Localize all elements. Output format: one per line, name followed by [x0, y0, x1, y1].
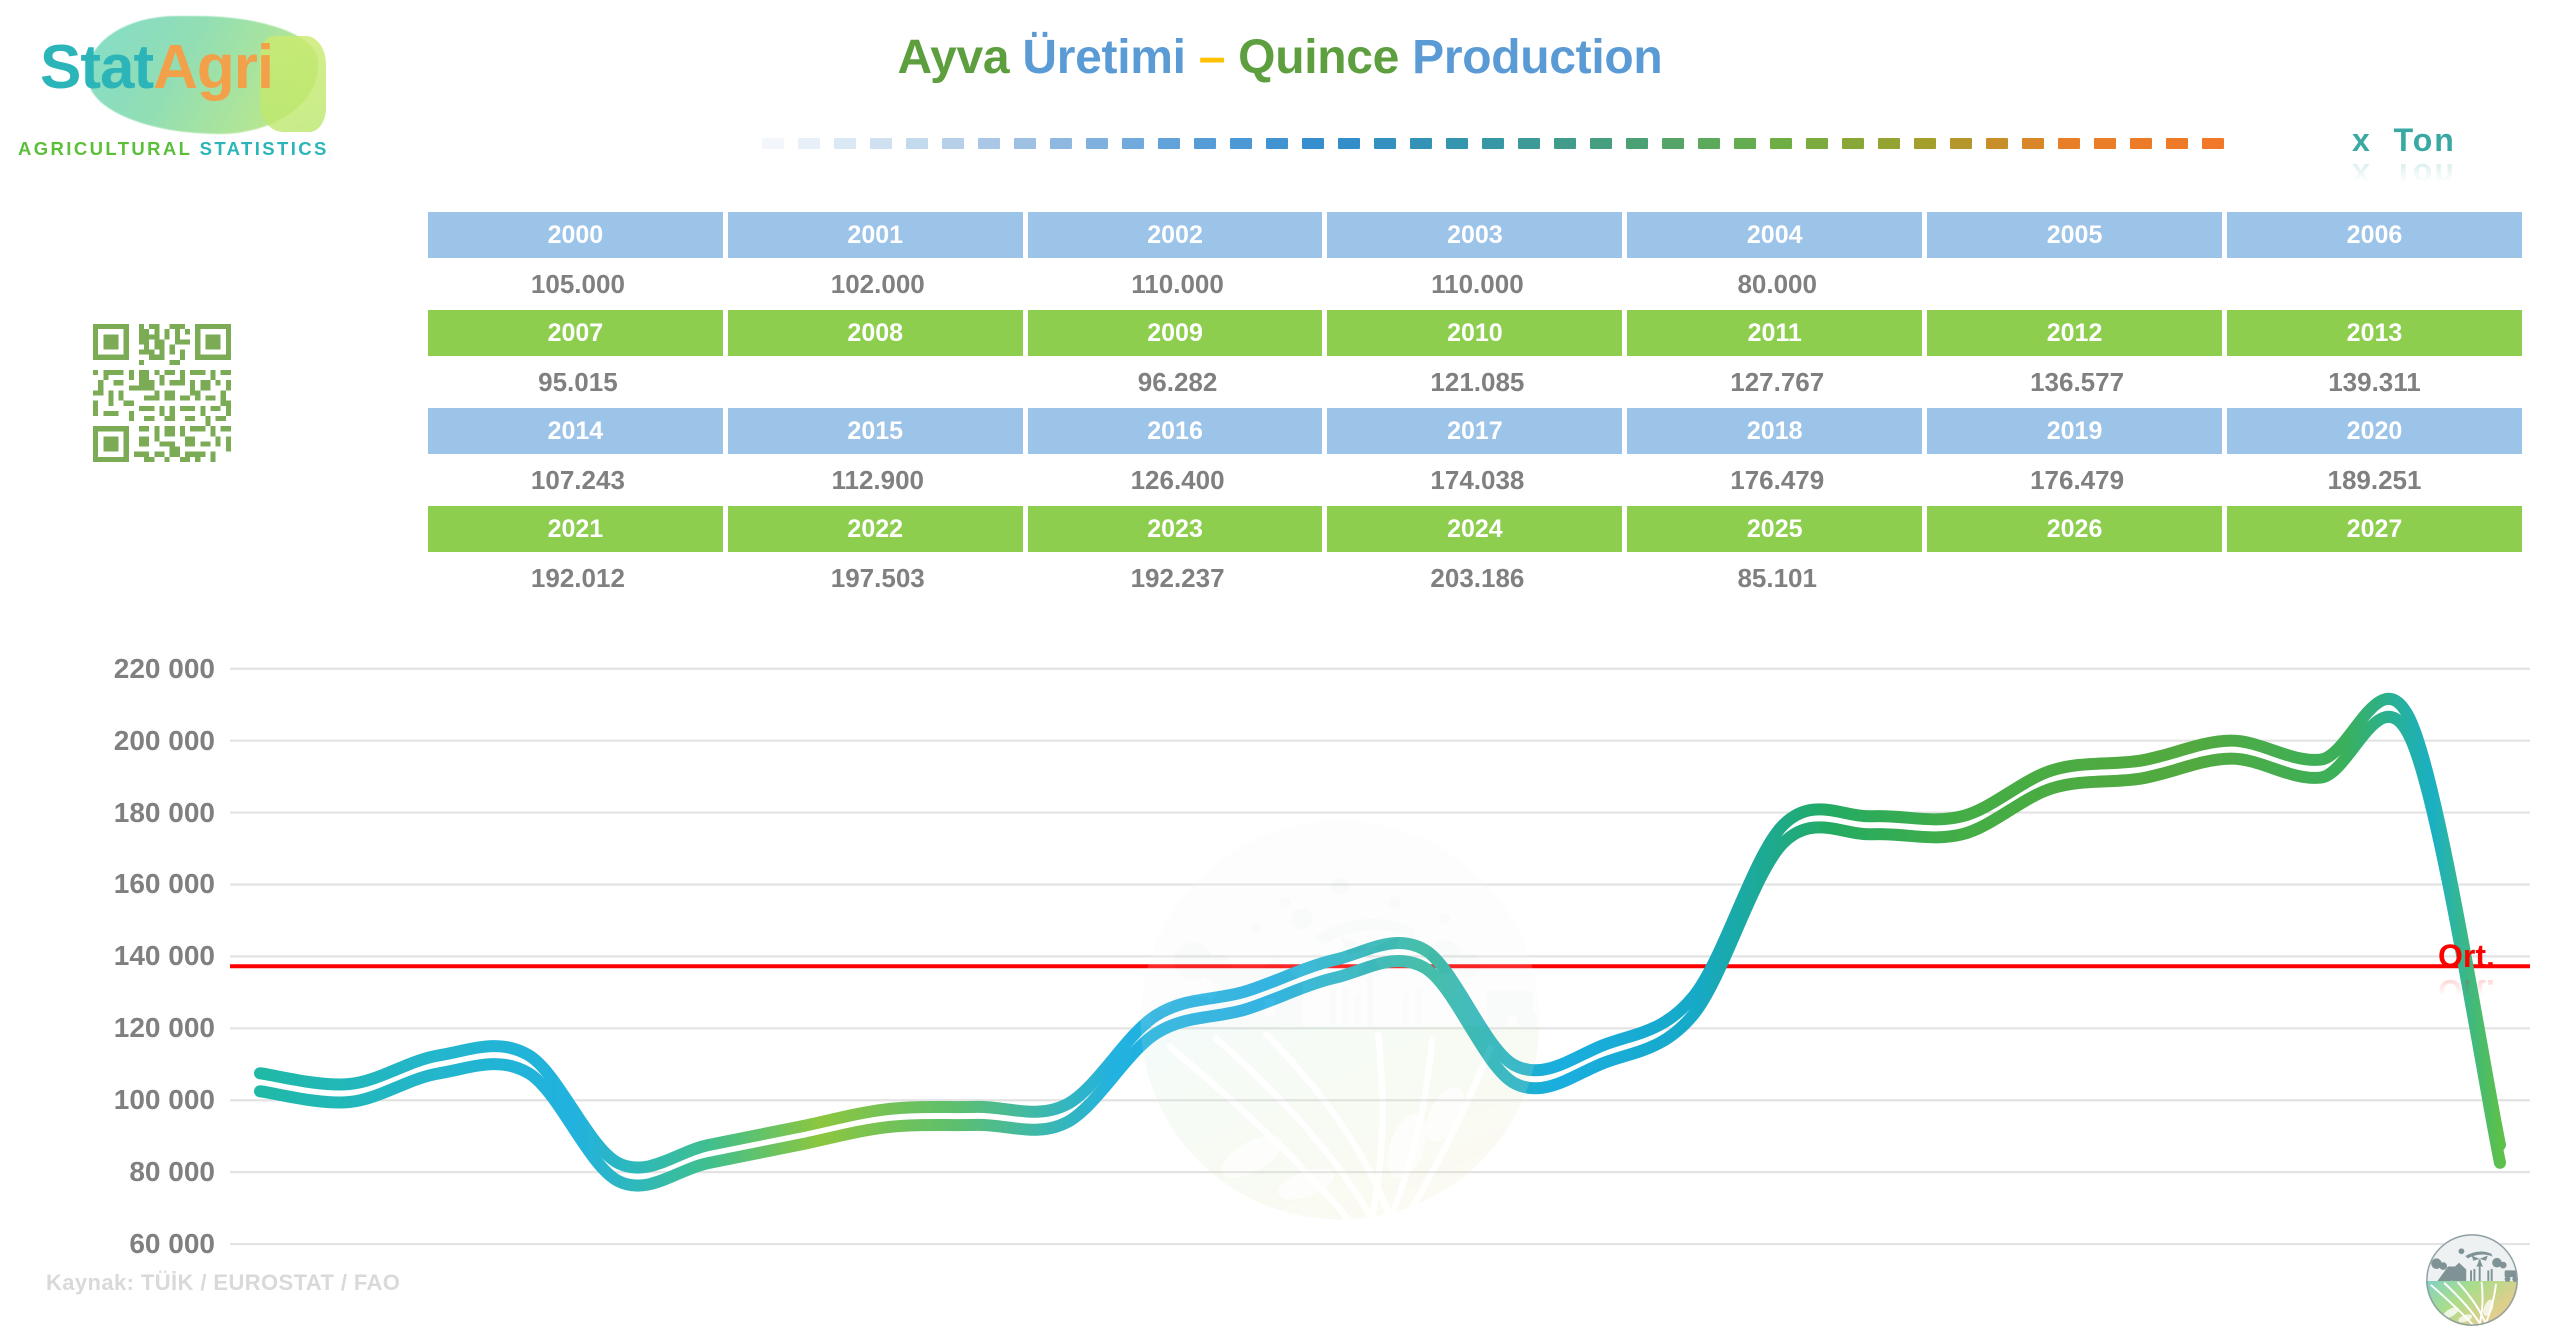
table-value-cell: [728, 356, 1028, 408]
table-header-row: 2014201520162017201820192020: [428, 408, 2522, 454]
table-year-cell: 2025: [1627, 506, 1927, 552]
table-value-row: 107.243112.900126.400174.038176.479176.4…: [428, 454, 2522, 506]
table-year-cell: 2003: [1327, 212, 1627, 258]
table-year-cell: 2000: [428, 212, 728, 258]
chart-y-axis-labels: 220 000200 000180 000160 000140 000120 0…: [0, 640, 215, 1280]
dash-segment: [1302, 138, 1324, 149]
dash-segment: [1086, 138, 1108, 149]
dash-segment: [1806, 138, 1828, 149]
logo-tagline: AGRICULTURAL STATISTICS: [18, 138, 329, 160]
dash-segment: [1626, 138, 1648, 149]
table-value-cell: 176.479: [1627, 454, 1927, 506]
dash-segment: [1014, 138, 1036, 149]
dash-segment: [1482, 138, 1504, 149]
table-year-cell: 2027: [2227, 506, 2522, 552]
title-dash: –: [1199, 31, 1225, 84]
dash-segment: [1950, 138, 1972, 149]
table-year-cell: 2020: [2227, 408, 2522, 454]
dash-segment: [834, 138, 856, 149]
table-year-cell: 2026: [1927, 506, 2227, 552]
dash-segment: [1410, 138, 1432, 149]
table-year-cell: 2016: [1028, 408, 1328, 454]
dash-segment: [1698, 138, 1720, 149]
table-year-cell: 2021: [428, 506, 728, 552]
dash-segment: [1518, 138, 1540, 149]
dash-segment: [1770, 138, 1792, 149]
dash-segment: [1374, 138, 1396, 149]
corner-brand-logo: [2424, 1232, 2520, 1328]
table-value-cell: 197.503: [728, 552, 1028, 604]
dash-segment: [906, 138, 928, 149]
dash-segment: [2094, 138, 2116, 149]
table-year-cell: 2006: [2227, 212, 2522, 258]
dash-segment: [1986, 138, 2008, 149]
dash-segment: [1158, 138, 1180, 149]
chart-y-tick-label: 220 000: [114, 653, 215, 685]
table-value-cell: 127.767: [1627, 356, 1927, 408]
dash-segment: [1122, 138, 1144, 149]
dash-segment: [2058, 138, 2080, 149]
table-year-cell: 2007: [428, 310, 728, 356]
table-value-cell: [1927, 552, 2227, 604]
table-header-row: 2000200120022003200420052006: [428, 212, 2522, 258]
dash-segment: [1662, 138, 1684, 149]
dash-segment: [2166, 138, 2188, 149]
table-year-cell: 2024: [1327, 506, 1627, 552]
unit-label-reflection: x Ton: [2352, 156, 2456, 193]
table-year-cell: 2009: [1028, 310, 1328, 356]
table-year-cell: 2004: [1627, 212, 1927, 258]
unit-label: x Ton x Ton: [2352, 122, 2456, 159]
table-value-cell: 139.311: [2227, 356, 2522, 408]
table-value-cell: 121.085: [1327, 356, 1627, 408]
table-year-cell: 2023: [1028, 506, 1328, 552]
table-value-cell: 102.000: [728, 258, 1028, 310]
title-quince: Quince: [1238, 31, 1399, 84]
table-value-cell: 85.101: [1627, 552, 1927, 604]
qr-code-icon: [88, 318, 236, 468]
dash-segment: [1338, 138, 1360, 149]
average-line-label-text: Ort.: [2438, 938, 2495, 974]
table-value-cell: 95.015: [428, 356, 728, 408]
table-year-cell: 2014: [428, 408, 728, 454]
dash-segment: [2022, 138, 2044, 149]
table-value-cell: 110.000: [1327, 258, 1627, 310]
table-year-cell: 2013: [2227, 310, 2522, 356]
table-value-cell: 80.000: [1627, 258, 1927, 310]
table-header-row: 2021202220232024202520262027: [428, 506, 2522, 552]
table-year-cell: 2005: [1927, 212, 2227, 258]
table-year-cell: 2012: [1927, 310, 2227, 356]
farm-circle-icon: [2424, 1232, 2520, 1328]
table-value-cell: 174.038: [1327, 454, 1627, 506]
dash-segment: [1734, 138, 1756, 149]
table-year-cell: 2001: [728, 212, 1028, 258]
table-value-cell: 189.251: [2227, 454, 2522, 506]
table-year-cell: 2011: [1627, 310, 1927, 356]
table-value-cell: 176.479: [1927, 454, 2227, 506]
dash-segment: [870, 138, 892, 149]
table-value-row: 95.01596.282121.085127.767136.577139.311: [428, 356, 2522, 408]
chart-y-tick-label: 140 000: [114, 940, 215, 972]
data-table-wrapper: 2000200120022003200420052006105.000102.0…: [428, 212, 1526, 604]
unit-label-text: x Ton: [2352, 122, 2456, 158]
dash-segment: [1878, 138, 1900, 149]
dash-segment: [978, 138, 1000, 149]
source-note: Kaynak: TÜİK / EUROSTAT / FAO: [46, 1270, 400, 1296]
table-value-cell: 112.900: [728, 454, 1028, 506]
title-production: Production: [1412, 31, 1662, 84]
table-header-row: 2007200820092010201120122013: [428, 310, 2522, 356]
dash-segment: [1050, 138, 1072, 149]
table-value-cell: 105.000: [428, 258, 728, 310]
chart-y-tick-label: 60 000: [129, 1228, 215, 1260]
table-value-cell: 136.577: [1927, 356, 2227, 408]
table-year-cell: 2008: [728, 310, 1028, 356]
dash-segment: [1446, 138, 1468, 149]
average-line-label: Ort. Ort.: [2438, 938, 2495, 975]
dash-segment: [1554, 138, 1576, 149]
page-title: Ayva Üretimi – Quince Production: [0, 30, 2560, 85]
table-year-cell: 2010: [1327, 310, 1627, 356]
dash-segment: [1914, 138, 1936, 149]
production-line-chart: [230, 640, 2530, 1280]
chart-y-tick-label: 160 000: [114, 868, 215, 900]
dash-segment: [1590, 138, 1612, 149]
table-value-row: 192.012197.503192.237203.18685.101: [428, 552, 2522, 604]
table-value-cell: 107.243: [428, 454, 728, 506]
table-year-cell: 2017: [1327, 408, 1627, 454]
production-data-table: 2000200120022003200420052006105.000102.0…: [428, 212, 2522, 604]
table-value-cell: 203.186: [1327, 552, 1627, 604]
chart-series: [260, 699, 2500, 1186]
chart-y-tick-label: 100 000: [114, 1084, 215, 1116]
table-year-cell: 2019: [1927, 408, 2227, 454]
logo-wordmark: StatAgri: [40, 32, 273, 103]
title-ayva: Ayva: [898, 31, 1010, 84]
title-uretimi: Üretimi: [1022, 31, 1185, 84]
table-value-cell: [2227, 552, 2522, 604]
table-value-cell: [1927, 258, 2227, 310]
chart-y-tick-label: 80 000: [129, 1156, 215, 1188]
dash-segment: [762, 138, 784, 149]
dash-segment: [1194, 138, 1216, 149]
dash-segment: [1842, 138, 1864, 149]
chart-y-tick-label: 200 000: [114, 725, 215, 757]
table-year-cell: 2002: [1028, 212, 1328, 258]
dash-segment: [942, 138, 964, 149]
dash-segment: [798, 138, 820, 149]
logo-tagline-agricultural: AGRICULTURAL: [18, 138, 192, 159]
table-year-cell: 2015: [728, 408, 1028, 454]
table-value-cell: 110.000: [1028, 258, 1328, 310]
table-value-cell: 126.400: [1028, 454, 1328, 506]
average-line-label-reflection: Ort.: [2438, 972, 2495, 1009]
table-value-cell: 192.012: [428, 552, 728, 604]
dash-segment: [2202, 138, 2224, 149]
chart-y-tick-label: 180 000: [114, 797, 215, 829]
table-value-cell: [2227, 258, 2522, 310]
logo-tagline-statistics: STATISTICS: [200, 138, 329, 159]
qr-code[interactable]: [88, 318, 236, 468]
dash-segment: [2130, 138, 2152, 149]
table-year-cell: 2022: [728, 506, 1028, 552]
dash-segment: [726, 138, 748, 149]
table-value-cell: 192.237: [1028, 552, 1328, 604]
dash-segment: [1266, 138, 1288, 149]
table-year-cell: 2018: [1627, 408, 1927, 454]
table-value-cell: 96.282: [1028, 356, 1328, 408]
table-value-row: 105.000102.000110.000110.00080.000: [428, 258, 2522, 310]
chart-y-tick-label: 120 000: [114, 1012, 215, 1044]
decorative-dashed-rule: [726, 138, 2236, 150]
dash-segment: [1230, 138, 1252, 149]
logo-word-agri: Agri: [153, 33, 273, 102]
logo-word-stat: Stat: [40, 33, 153, 102]
